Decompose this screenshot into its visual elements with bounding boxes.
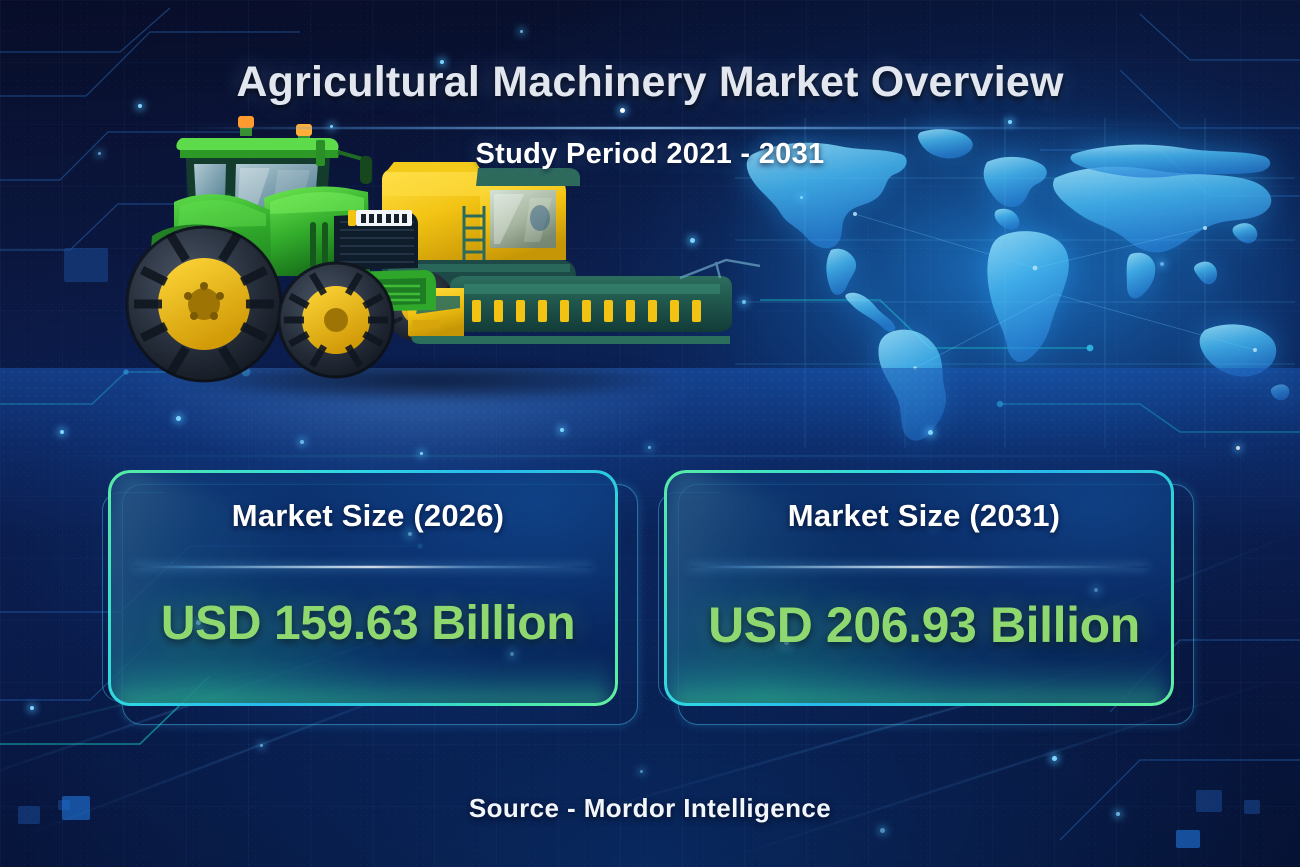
card-value: USD 206.93 Billion xyxy=(664,596,1184,654)
card-label: Market Size (2031) xyxy=(664,498,1184,534)
stat-card-market-size-2026[interactable]: Market Size (2026) USD 159.63 Billion xyxy=(108,470,628,715)
stat-card-market-size-2031[interactable]: Market Size (2031) USD 206.93 Billion xyxy=(664,470,1184,715)
card-divider xyxy=(134,566,592,568)
page-title: Agricultural Machinery Market Overview xyxy=(0,58,1300,107)
title-underline xyxy=(180,127,1125,129)
card-label: Market Size (2026) xyxy=(108,498,628,534)
market-size-cards: Market Size (2026) USD 159.63 Billion Ma… xyxy=(0,470,1300,720)
infographic-canvas: Agricultural Machinery Market Overview S… xyxy=(0,0,1300,867)
tractor-front-wheel xyxy=(278,262,394,378)
card-divider xyxy=(690,566,1148,568)
study-period-subtitle: Study Period 2021 - 2031 xyxy=(0,138,1300,171)
card-value: USD 159.63 Billion xyxy=(108,596,628,651)
tractor-number-plate xyxy=(348,210,412,226)
yellow-combine-harvester xyxy=(382,162,760,344)
harvester-header xyxy=(408,276,732,344)
source-attribution: Source - Mordor Intelligence xyxy=(0,793,1300,824)
tractor-rear-wheel xyxy=(126,226,282,382)
